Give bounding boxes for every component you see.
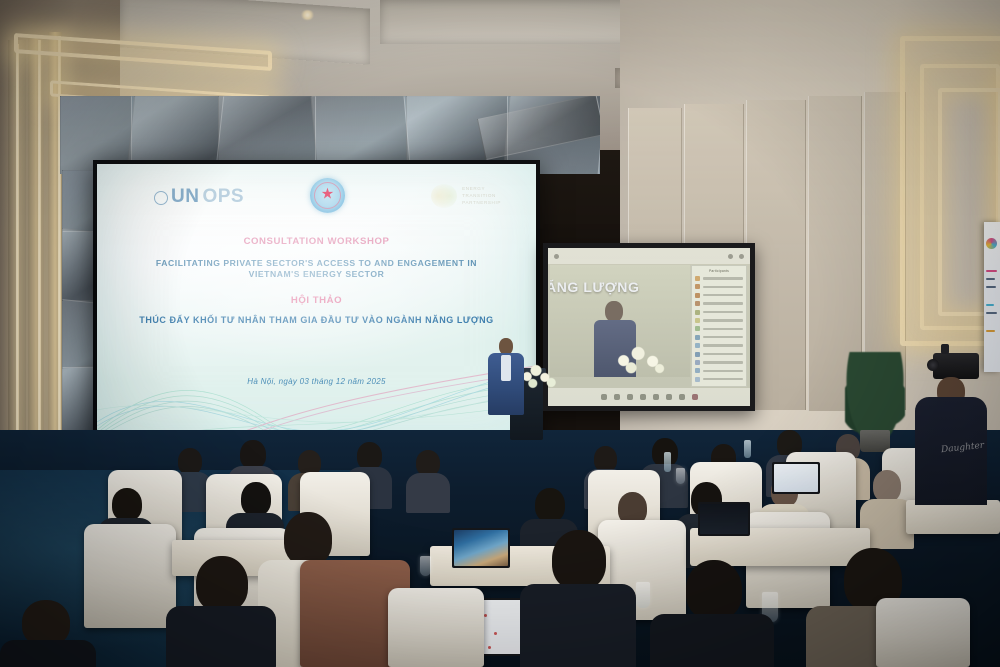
- vc-participant-row[interactable]: [695, 284, 743, 289]
- audience-member-foreground: [520, 530, 636, 667]
- slide-subtitle-en-line1: FACILITATING PRIVATE SECTOR'S ACCESS TO …: [97, 258, 536, 269]
- vietnam-government-emblem-icon: ★: [310, 178, 345, 213]
- side-projection-screen: ĂNG LƯỢNG Participants: [543, 243, 755, 411]
- vc-participant-row[interactable]: [695, 301, 743, 306]
- audience-member-foreground: [0, 600, 96, 667]
- audience-chair: [388, 588, 484, 667]
- vc-participant-row[interactable]: [695, 310, 743, 315]
- un-globe-icon: [154, 191, 168, 205]
- vc-participant-row[interactable]: [695, 318, 743, 323]
- audience-chair: [84, 524, 176, 628]
- vc-menu-icon[interactable]: [554, 254, 559, 259]
- etp-logo-line1: ENERGY: [462, 186, 501, 192]
- vc-participant-row[interactable]: [695, 335, 743, 340]
- vc-flower-arrangement: [612, 339, 670, 375]
- slide-title-vi: HỘI THẢO: [97, 295, 536, 308]
- video-conference-display: ĂNG LƯỢNG Participants: [548, 248, 750, 406]
- speaker-at-podium: [488, 338, 524, 424]
- slide-subtitle-vi: THÚC ĐẨY KHỐI TƯ NHÂN THAM GIA ĐẦU TƯ VÀ…: [97, 315, 536, 327]
- vc-overlay-caption: ĂNG LƯỢNG: [550, 279, 640, 295]
- vc-mic-icon[interactable]: [601, 394, 607, 400]
- laptop-screen: [454, 530, 508, 566]
- vc-more-icon[interactable]: [679, 394, 685, 400]
- laptop-screen: [774, 464, 818, 492]
- audience-laptop[interactable]: [452, 528, 510, 568]
- water-glass: [676, 468, 685, 484]
- vc-participant-row[interactable]: [695, 276, 743, 281]
- vc-chat-icon[interactable]: [640, 394, 646, 400]
- unops-logo-text-secondary: OPS: [202, 186, 244, 208]
- vc-share-screen-icon[interactable]: [627, 394, 633, 400]
- vc-participant-row[interactable]: [695, 352, 743, 357]
- slide-text-block: CONSULTATION WORKSHOP FACILITATING PRIVA…: [97, 236, 536, 327]
- slide-logo-row: UNOPS ★ ENERGY TRANSITION PARTNERSHIP: [97, 178, 536, 222]
- vc-participants-panel[interactable]: Participants: [691, 265, 747, 387]
- vc-participants-header: Participants: [695, 269, 743, 273]
- camera-operator: Daughter: [915, 355, 987, 505]
- vc-participant-row[interactable]: [695, 368, 743, 373]
- vc-settings-icon[interactable]: [728, 254, 733, 259]
- audience-laptop[interactable]: [772, 462, 820, 494]
- downlight: [300, 10, 315, 20]
- laptop-screen: [700, 504, 748, 534]
- water-glass: [420, 556, 431, 576]
- vc-camera-icon[interactable]: [614, 394, 620, 400]
- slide-subtitle-en-line2: VIETNAM'S ENERGY SECTOR: [97, 269, 536, 280]
- audience-member-foreground: [650, 560, 774, 667]
- wall-panel: [746, 100, 806, 410]
- vc-participant-row[interactable]: [695, 360, 743, 365]
- audience-chair: [876, 598, 970, 667]
- vc-participant-row[interactable]: [695, 326, 743, 331]
- poster-graphic-icon: [986, 238, 997, 249]
- audience-laptop[interactable]: [698, 502, 750, 536]
- water-bottle: [664, 452, 671, 472]
- video-camera: [933, 353, 979, 379]
- water-glass: [636, 582, 650, 608]
- vc-participants-icon[interactable]: [653, 394, 659, 400]
- event-poster: [984, 222, 1000, 372]
- slide-title-en: CONSULTATION WORKSHOP: [97, 236, 536, 249]
- slide-wave-decoration: [97, 360, 536, 438]
- vc-leave-icon[interactable]: [692, 394, 698, 400]
- audience-member: [406, 450, 450, 508]
- podium-flower-arrangement: [520, 360, 560, 390]
- vc-control-bar[interactable]: [548, 388, 750, 406]
- vc-minimize-icon[interactable]: [739, 254, 744, 259]
- audience-member-foreground: [166, 556, 276, 667]
- vc-participant-row[interactable]: [695, 377, 743, 382]
- etp-petals-icon: [431, 184, 457, 208]
- unops-logo: UNOPS: [154, 186, 244, 208]
- unops-logo-text-primary: UN: [171, 186, 199, 208]
- conference-hall-photo: UNOPS ★ ENERGY TRANSITION PARTNERSHIP CO: [0, 0, 1000, 667]
- etp-logo: ENERGY TRANSITION PARTNERSHIP: [431, 184, 501, 208]
- main-led-screen: UNOPS ★ ENERGY TRANSITION PARTNERSHIP CO: [93, 160, 540, 442]
- vc-record-icon[interactable]: [666, 394, 672, 400]
- vc-participant-row[interactable]: [695, 343, 743, 348]
- camera-mic-icon: [941, 344, 949, 354]
- vc-toolbar[interactable]: [548, 248, 750, 264]
- water-bottle: [744, 440, 751, 458]
- etp-logo-line3: PARTNERSHIP: [462, 200, 501, 206]
- presentation-slide: UNOPS ★ ENERGY TRANSITION PARTNERSHIP CO: [97, 164, 536, 438]
- etp-logo-line2: TRANSITION: [462, 193, 501, 199]
- delegate-table: [906, 500, 1000, 534]
- camera-lens-icon: [927, 359, 939, 371]
- vc-participant-row[interactable]: [695, 293, 743, 298]
- vc-video-feed: ĂNG LƯỢNG: [550, 265, 690, 377]
